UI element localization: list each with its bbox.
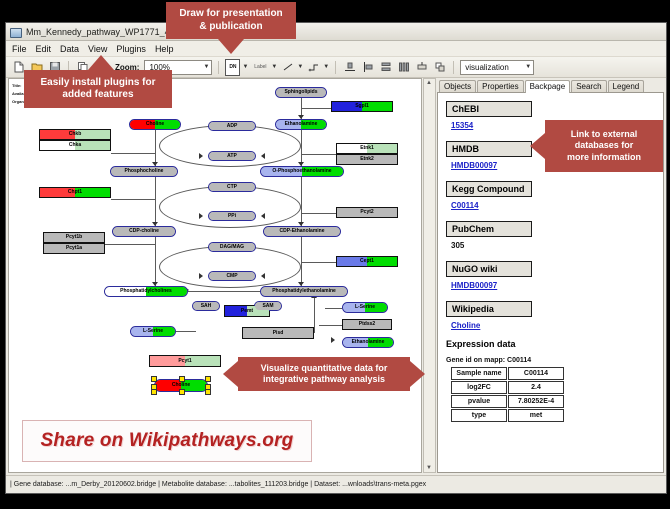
expr-label-pvalue: pvalue (451, 395, 507, 408)
node-label: Phosphatidylcholines (120, 289, 172, 294)
callout-links-pointer-icon (530, 133, 545, 159)
pathway-edge-4 (301, 130, 302, 166)
pathway-arrowhead-7 (199, 153, 203, 159)
metabolite-node-ppi[interactable]: PPi (208, 211, 256, 221)
pathway-arrowhead-10 (261, 213, 265, 219)
visualization-combo[interactable]: visualization ▼ (460, 60, 534, 75)
expr-label-type: type (451, 409, 507, 422)
distribute-icon[interactable] (396, 60, 411, 75)
db-header-pubchem: PubChem (446, 221, 532, 237)
pathway-edge-14 (188, 291, 260, 292)
expr-value-log2fc: 2.4 (508, 381, 564, 394)
datanode-tool-icon[interactable]: DN (225, 59, 240, 76)
gene-node-pcyt1a[interactable]: Pcyt1a (43, 243, 105, 254)
connector-tool-icon[interactable] (306, 60, 321, 75)
toolbar-separator-4 (453, 61, 454, 74)
metabolite-node-ethanolamine-top[interactable]: Ethanolamine (275, 119, 327, 130)
gene-node-etnk1[interactable]: Etnk1 (336, 143, 398, 154)
node-label: Chkb (69, 132, 82, 137)
metabolite-node-sah[interactable]: SAH (192, 301, 220, 311)
node-label: CDP-choline (129, 229, 159, 234)
gene-node-chpt1[interactable]: Chpt1 (39, 187, 111, 198)
app-icon (10, 26, 21, 37)
tab-search[interactable]: Search (571, 80, 606, 92)
expr-label-sample-name: Sample name (451, 367, 507, 380)
db-link-nugo-wiki[interactable]: HMDB00097 (451, 281, 655, 290)
gene-node-pcyt2[interactable]: Pcyt2 (336, 207, 398, 218)
pathway-arrowhead-11 (199, 273, 203, 279)
node-label: Ptdss2 (359, 322, 375, 327)
gene-node-sgpl1[interactable]: Sgpl1 (331, 101, 393, 112)
metabolite-node-sam[interactable]: SAM (254, 301, 282, 311)
pathway-edge-18 (314, 297, 315, 333)
callout-share-wikipathways: Share on Wikipathways.org (22, 420, 312, 462)
chevron-down-icon: ▼ (525, 64, 531, 70)
pathway-arrowhead-12 (261, 273, 265, 279)
callout-visualize-left-pointer-icon (223, 361, 238, 387)
node-label: Sphingolipids (284, 90, 317, 95)
metabolite-node-l-serine-left[interactable]: L-Serine (130, 326, 176, 337)
pathway-drawing[interactable]: Title: Availa Organi ChkbChkaSgpl1Etnk1E… (9, 79, 421, 472)
selection-handle-1[interactable] (179, 376, 185, 382)
chevron-down-icon: ▼ (203, 64, 209, 70)
align-top-icon[interactable] (342, 60, 357, 75)
db-header-nugo-wiki: NuGO wiki (446, 261, 532, 277)
metabolite-node-phosphatidylcholines[interactable]: Phosphatidylcholines (104, 286, 188, 297)
order-icon[interactable] (432, 60, 447, 75)
expr-value-sample-name: C00114 (508, 367, 564, 380)
node-label: Chka (69, 143, 81, 148)
db-header-kegg-compound: Kegg Compound (446, 181, 532, 197)
gene-id-on-mapp: Gene id on mapp: C00114 (446, 357, 655, 364)
metabolite-node-sphingolipids[interactable]: Sphingolipids (275, 87, 327, 98)
node-label: Ethanolamine (352, 340, 385, 345)
pathway-edge-0 (155, 130, 156, 166)
table-row: type met (451, 409, 564, 422)
node-label: Pcyt2 (360, 210, 373, 215)
pathway-arrowhead-9 (199, 213, 203, 219)
node-label: Phosphocholine (125, 169, 164, 174)
db-link-wikipedia[interactable]: Choline (451, 321, 655, 330)
node-label: ATP (227, 154, 237, 159)
pathway-edge-10 (301, 108, 331, 109)
db-header-chebi: ChEBI (446, 101, 532, 117)
label-dropdown-icon[interactable]: ▼ (271, 64, 277, 70)
db-link-kegg-compound[interactable]: C00114 (451, 201, 655, 210)
screenshot-root: Mm_Kennedy_pathway_WP1771_45176.gpml Fil… (0, 0, 670, 509)
menu-item-plugins[interactable]: Plugins (116, 44, 146, 54)
metabolite-node-adp[interactable]: ADP (208, 121, 256, 131)
pathway-loop-2 (159, 246, 301, 288)
metabolite-node-ethanolamine-right[interactable]: Ethanolamine (342, 337, 394, 348)
gene-node-pcyt1[interactable]: Pcyt1 (149, 355, 221, 367)
pathway-edge-16 (325, 308, 342, 309)
canvas-info-title: Title: (12, 83, 21, 88)
connector-dropdown-icon[interactable]: ▼ (323, 64, 329, 70)
tab-properties[interactable]: Properties (477, 80, 523, 92)
node-label: Cept1 (360, 259, 374, 264)
callout-easily-install-plugins: Easily install plugins for added feature… (24, 70, 172, 108)
metabolite-node-phosphocholine[interactable]: Phosphocholine (110, 166, 178, 177)
menu-item-file[interactable]: File (12, 44, 27, 54)
table-row: log2FC 2.4 (451, 381, 564, 394)
gene-node-ptdss2[interactable]: Ptdss2 (342, 319, 392, 330)
expr-label-log2fc: log2FC (451, 381, 507, 394)
menu-item-view[interactable]: View (88, 44, 107, 54)
node-label: Ethanolamine (285, 122, 318, 127)
gene-node-chkb[interactable]: Chkb (39, 129, 111, 140)
callout-plugins-pointer-icon (88, 55, 114, 70)
db-header-wikipedia: Wikipedia (446, 301, 532, 317)
scroll-up-icon[interactable]: ▲ (426, 80, 432, 86)
status-bar: | Gene database: ...m_Derby_20120602.bri… (6, 475, 666, 493)
pathway-edge-8 (111, 199, 155, 200)
canvas-info-organism: Organi (12, 99, 25, 104)
expr-value-type: met (508, 409, 564, 422)
node-label: CMP (226, 274, 237, 279)
pathway-canvas[interactable]: Title: Availa Organi ChkbChkaSgpl1Etnk1E… (8, 78, 422, 473)
node-label: L-Serine (143, 329, 163, 334)
db-header-hmdb: HMDB (446, 141, 532, 157)
pathway-edge-9 (105, 244, 155, 245)
gene-node-pisd[interactable]: Pisd (242, 327, 314, 339)
pathway-edge-11 (301, 154, 336, 155)
expression-table: Sample name C00114 log2FC 2.4 pvalue 7.8… (450, 366, 565, 423)
node-label: PPi (228, 214, 236, 219)
label-tool-icon[interactable]: Label (251, 60, 269, 75)
node-label: Etnk2 (360, 157, 374, 162)
group-icon[interactable] (414, 60, 429, 75)
tab-legend[interactable]: Legend (608, 80, 645, 92)
node-label: DAG/MAG (220, 245, 244, 250)
pathway-edge-7 (111, 153, 155, 154)
status-bar-text: | Gene database: ...m_Derby_20120602.bri… (6, 481, 426, 488)
metabolite-node-l-serine-right[interactable]: L-Serine (342, 302, 388, 313)
node-label: L-Serine (355, 305, 375, 310)
title-bar: Mm_Kennedy_pathway_WP1771_45176.gpml (6, 23, 666, 41)
table-row: Sample name C00114 (451, 367, 564, 380)
visualization-value: visualization (463, 63, 509, 72)
tab-objects[interactable]: Objects (439, 80, 476, 92)
pathway-arrowhead-15 (331, 337, 335, 343)
selection-handle-2[interactable] (205, 376, 211, 382)
node-label: CTP (227, 185, 237, 190)
menu-item-help[interactable]: Help (155, 44, 174, 54)
toolbar-separator-3 (335, 61, 336, 74)
metabolite-node-cdp-ethanolamine[interactable]: CDP-Ethanolamine (263, 226, 341, 237)
pathway-edge-1 (155, 177, 156, 226)
gene-node-chka[interactable]: Chka (39, 140, 111, 151)
pathway-arrowhead-8 (261, 153, 265, 159)
selection-handle-5[interactable] (151, 389, 157, 395)
table-row: pvalue 7.80252E-4 (451, 395, 564, 408)
pathway-edge-5 (301, 177, 302, 226)
node-label: Pcyt1 (178, 359, 191, 364)
expression-data-heading: Expression data (446, 339, 655, 349)
node-label: Sgpl1 (355, 104, 369, 109)
gene-node-cept1[interactable]: Cept1 (336, 256, 398, 267)
metabolite-node-choline-top[interactable]: Choline (129, 119, 181, 130)
node-label: ADP (227, 124, 238, 129)
expr-value-pvalue: 7.80252E-4 (508, 395, 564, 408)
canvas-vertical-scrollbar[interactable]: ▲ ▼ (423, 78, 436, 473)
tab-backpage[interactable]: Backpage (525, 80, 571, 93)
callout-draw-for-publication: Draw for presentation & publication (166, 2, 296, 39)
pathway-loop-1 (159, 186, 301, 228)
node-label: SAM (262, 304, 273, 309)
toolbar-separator-2 (218, 61, 219, 74)
pathway-edge-19 (176, 331, 196, 332)
line-dropdown-icon[interactable]: ▼ (297, 64, 303, 70)
metabolite-node-dagmag[interactable]: DAG/MAG (208, 242, 256, 252)
metabolite-node-atp[interactable]: ATP (208, 151, 256, 161)
gene-node-etnk2[interactable]: Etnk2 (336, 154, 398, 165)
node-label: Phosphatidylethanolamine (272, 289, 336, 294)
node-label: Pemt (241, 309, 253, 314)
db-value-pubchem: 305 (451, 241, 655, 250)
selection-handle-6[interactable] (179, 389, 185, 395)
menu-item-data[interactable]: Data (60, 44, 79, 54)
gene-node-pcyt1b[interactable]: Pcyt1b (43, 232, 105, 243)
stack-vertical-icon[interactable] (378, 60, 393, 75)
side-panel-tabs: Objects Properties Backpage Search Legen… (437, 78, 664, 93)
align-left-icon[interactable] (360, 60, 375, 75)
node-label: Choline (172, 383, 190, 388)
node-label: Pcyt1a (66, 246, 82, 251)
pathway-edge-12 (301, 213, 336, 214)
scroll-down-icon[interactable]: ▼ (426, 465, 432, 471)
metabolite-node-cdp-choline[interactable]: CDP-choline (112, 226, 176, 237)
node-label: Pcyt1b (66, 235, 82, 240)
canvas-info-availability: Availa (12, 91, 24, 96)
metabolite-node-cmp[interactable]: CMP (208, 271, 256, 281)
callout-draw-pointer-icon (218, 39, 244, 54)
node-label: Chpt1 (68, 190, 82, 195)
menu-item-edit[interactable]: Edit (36, 44, 52, 54)
pathway-edge-13 (301, 262, 336, 263)
selection-handle-7[interactable] (205, 389, 211, 395)
metabolite-node-phosphatidylethanolamine[interactable]: Phosphatidylethanolamine (260, 286, 348, 297)
datanode-dropdown-icon[interactable]: ▼ (242, 64, 248, 70)
line-tool-icon[interactable] (280, 60, 295, 75)
pathway-edge-2 (155, 237, 156, 286)
node-label: O-Phosphoethanolamine (272, 169, 331, 174)
callout-visualize-right-pointer-icon (410, 361, 425, 387)
metabolite-node-o-phosphoethanolamine[interactable]: O-Phosphoethanolamine (260, 166, 344, 177)
pathway-edge-15 (319, 325, 342, 326)
metabolite-node-ctp[interactable]: CTP (208, 182, 256, 192)
callout-link-external-databases: Link to external databases for more info… (545, 120, 663, 172)
node-label: SAH (201, 304, 212, 309)
node-label: Pisd (273, 331, 284, 336)
callout-visualize-quantitative-data: Visualize quantitative data for integrat… (238, 357, 410, 391)
share-wikipathways-text: Share on Wikipathways.org (41, 430, 294, 452)
node-label: CDP-Ethanolamine (279, 229, 324, 234)
node-label: Choline (146, 122, 164, 127)
node-label: Etnk1 (360, 146, 374, 151)
selection-handle-0[interactable] (151, 376, 157, 382)
